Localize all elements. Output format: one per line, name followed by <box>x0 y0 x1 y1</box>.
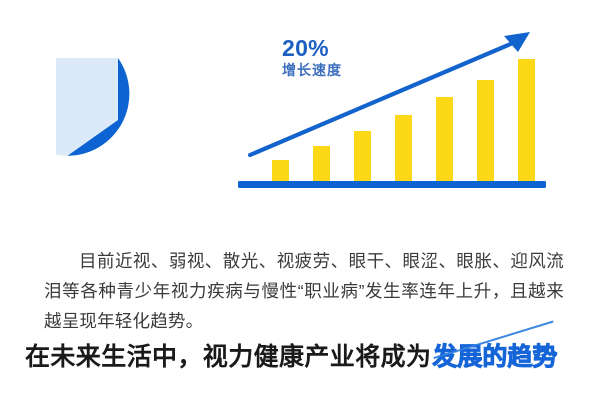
bar-item <box>477 80 494 182</box>
growth-caption-label: 增长速度 <box>282 63 342 79</box>
pie-value-label: 60% <box>126 132 170 153</box>
bar-item <box>518 59 535 182</box>
headline: 在未来生活中，视力健康产业将成为发展的趋势 <box>25 341 557 373</box>
headline-accent-text: 发展的趋势 <box>432 341 557 373</box>
growth-percent-value: 20% <box>282 36 342 62</box>
pie-slice-remainder <box>56 58 118 156</box>
chart-baseline <box>238 181 546 188</box>
headline-accent-label: 发展的趋势 <box>432 343 557 371</box>
body-paragraph: 目前近视、弱视、散光、视疲劳、眼干、眼涩、眼胀、迎风流泪等各种青少年视力疾病与慢… <box>44 246 564 336</box>
bar-item <box>272 160 289 182</box>
bar-item <box>354 131 371 182</box>
pie-chart <box>56 58 180 182</box>
bar-chart <box>232 22 552 198</box>
bar-item <box>436 97 453 182</box>
headline-plain-text: 在未来生活中，视力健康产业将成为 <box>25 343 431 371</box>
bar-item <box>395 115 412 182</box>
bar-item <box>313 146 330 182</box>
growth-callout: 20% 增长速度 <box>282 36 342 78</box>
graphics-band: 60% 20% 增长速度 <box>0 0 600 218</box>
